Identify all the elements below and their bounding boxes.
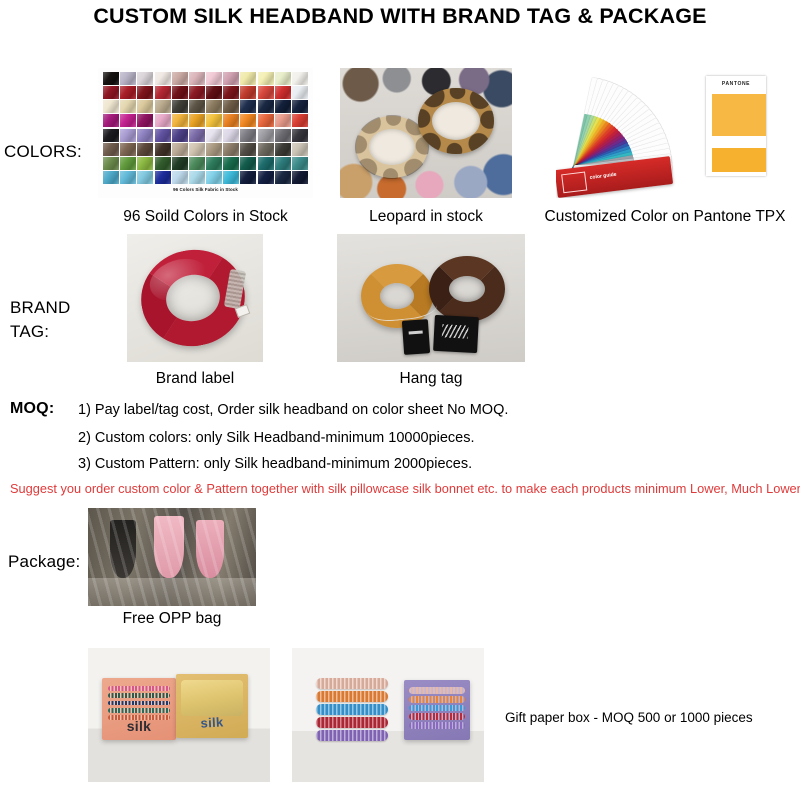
scrunchie-band [108, 693, 170, 698]
scrunchie-brown [429, 256, 505, 322]
color-swatch [172, 129, 188, 142]
scrunchie-ring [316, 717, 388, 728]
color-swatch [206, 171, 222, 184]
swatch-sheet-embedded-caption: 96 Colors Silk Fabric in Stock [98, 187, 313, 192]
pantone-color-card: PANTONE [706, 76, 766, 176]
moq-item-2: 2) Custom colors: only Silk Headband-min… [78, 430, 475, 446]
color-swatch-sheet-image: 96 Colors Silk Fabric in Stock [98, 68, 313, 198]
gift-box-pink: silk [102, 678, 176, 740]
gift-box-image-b [292, 648, 484, 782]
pantone-fan-image: color guide PANTONE [556, 62, 784, 198]
color-swatch [258, 100, 274, 113]
caption-hang-tag: Hang tag [337, 370, 525, 388]
color-swatch [240, 72, 256, 85]
color-swatch [240, 157, 256, 170]
color-swatch [240, 143, 256, 156]
color-swatch [240, 100, 256, 113]
color-swatch [223, 100, 239, 113]
color-swatch [155, 100, 171, 113]
pantone-brand-text: PANTONE [722, 81, 750, 87]
scrunchie-band [409, 687, 465, 694]
color-swatch [206, 86, 222, 99]
gift-box-image-a: silk silk [88, 648, 270, 782]
color-swatch [240, 129, 256, 142]
color-swatch [206, 100, 222, 113]
color-swatch [258, 171, 274, 184]
page-title: CUSTOM SILK HEADBAND WITH BRAND TAG & PA… [0, 4, 800, 29]
section-label-package: Package: [8, 552, 80, 572]
caption-brand-label: Brand label [127, 370, 263, 388]
color-swatch [120, 100, 136, 113]
color-swatch [258, 114, 274, 127]
color-swatch [258, 157, 274, 170]
color-swatch [292, 171, 308, 184]
caption-leopard: Leopard in stock [340, 208, 512, 226]
moq-item-1: 1) Pay label/tag cost, Order silk headba… [78, 402, 508, 418]
gift-box-word-silk: silk [127, 718, 152, 734]
color-swatch [206, 143, 222, 156]
scrunchie-band [108, 708, 170, 713]
color-swatch [223, 86, 239, 99]
pantone-card-header: PANTONE [706, 76, 766, 94]
color-swatch [172, 72, 188, 85]
giftbox-a-scrunchie-stack [108, 686, 170, 720]
color-swatch [189, 157, 205, 170]
color-swatch [292, 100, 308, 113]
color-swatch [137, 143, 153, 156]
color-swatch [240, 114, 256, 127]
scrunchie-ring [316, 730, 388, 741]
color-swatch [189, 171, 205, 184]
color-swatch [103, 100, 119, 113]
color-swatch [223, 157, 239, 170]
color-swatch [155, 72, 171, 85]
gift-box-purple [404, 680, 470, 740]
color-swatch [240, 171, 256, 184]
scrunchie-band [108, 701, 170, 706]
pantone-card-code [714, 138, 715, 143]
color-swatch [155, 171, 171, 184]
color-swatch [103, 72, 119, 85]
pantone-card-swatch-bottom [712, 148, 766, 172]
scrunchie-band [409, 713, 465, 720]
color-swatch [155, 129, 171, 142]
scrunchie-cream [356, 116, 428, 178]
color-swatch [206, 129, 222, 142]
color-swatch [275, 86, 291, 99]
caption-opp-bag: Free OPP bag [88, 610, 256, 628]
color-swatch [137, 86, 153, 99]
color-swatch [137, 157, 153, 170]
color-swatch [258, 143, 274, 156]
color-swatch [275, 100, 291, 113]
color-swatch [292, 157, 308, 170]
scrunchie-band [409, 696, 465, 703]
section-label-brand: BRAND [10, 298, 71, 318]
scrunchie-ring [316, 691, 388, 702]
color-swatch [292, 129, 308, 142]
gift-box-word-silk-2: silk [200, 714, 224, 730]
color-swatch [240, 86, 256, 99]
giftbox-b-scrunchie-rows [409, 687, 465, 729]
scrunchie-leopard [418, 88, 494, 154]
scrunchie-ring [316, 678, 388, 689]
color-swatch [172, 171, 188, 184]
color-swatch [103, 114, 119, 127]
color-swatch [120, 86, 136, 99]
color-swatch [120, 72, 136, 85]
color-swatch [103, 86, 119, 99]
color-swatch [189, 143, 205, 156]
section-label-moq: MOQ: [10, 400, 54, 418]
color-swatch [189, 100, 205, 113]
scrunchie-band [108, 686, 170, 691]
section-label-tag: TAG: [10, 322, 49, 342]
color-swatch [172, 86, 188, 99]
color-swatch [155, 143, 171, 156]
color-swatch [223, 171, 239, 184]
color-swatch [103, 171, 119, 184]
color-swatch [223, 143, 239, 156]
gift-box-yellow: silk [176, 674, 248, 738]
hang-tag-black-large [433, 315, 479, 353]
color-swatch [137, 100, 153, 113]
color-swatch [189, 86, 205, 99]
color-swatch [206, 157, 222, 170]
color-swatch [103, 157, 119, 170]
opp-bag-image [88, 508, 256, 606]
color-swatch [223, 114, 239, 127]
caption-gift-box: Gift paper box - MOQ 500 or 1000 pieces [505, 710, 753, 725]
color-swatch [172, 143, 188, 156]
color-swatch [223, 129, 239, 142]
opp-plastic-sheen [88, 508, 256, 606]
color-swatch [189, 72, 205, 85]
color-swatch [172, 100, 188, 113]
scrunchie-ring [316, 704, 388, 715]
color-swatch [155, 114, 171, 127]
caption-solid-colors: 96 Soild Colors in Stock [98, 208, 313, 226]
pantone-fan-base-label: color guide [589, 172, 616, 181]
color-swatch [137, 171, 153, 184]
color-swatch [292, 114, 308, 127]
giftbox-a-silk-pile [181, 680, 243, 716]
color-swatch [120, 171, 136, 184]
scrunchie-band [409, 722, 465, 729]
color-swatch [275, 157, 291, 170]
color-swatch [120, 114, 136, 127]
color-swatch [120, 129, 136, 142]
swatch-grid [103, 72, 308, 184]
leopard-scrunchies-image [340, 68, 512, 198]
suggestion-note: Suggest you order custom color & Pattern… [10, 481, 794, 496]
caption-pantone: Customized Color on Pantone TPX [530, 208, 800, 226]
color-swatch [103, 129, 119, 142]
pantone-card-swatch-top [712, 94, 766, 136]
color-swatch [155, 86, 171, 99]
color-swatch [103, 143, 119, 156]
scrunchie-stack [316, 678, 388, 741]
color-swatch [275, 129, 291, 142]
hang-tag-image [337, 234, 525, 362]
color-swatch [292, 143, 308, 156]
color-swatch [189, 129, 205, 142]
color-swatch [155, 157, 171, 170]
color-swatch [206, 114, 222, 127]
color-swatch [172, 157, 188, 170]
color-swatch [223, 72, 239, 85]
color-swatch [275, 114, 291, 127]
color-swatch [137, 72, 153, 85]
color-swatch [172, 114, 188, 127]
color-swatch [258, 72, 274, 85]
color-swatch [275, 171, 291, 184]
color-swatch [258, 129, 274, 142]
section-label-colors: COLORS: [4, 142, 82, 162]
color-swatch [137, 114, 153, 127]
color-swatch [120, 157, 136, 170]
moq-item-3: 3) Custom Pattern: only Silk headband-mi… [78, 456, 472, 472]
color-swatch [120, 143, 136, 156]
color-swatch [292, 86, 308, 99]
color-swatch [275, 72, 291, 85]
product-spec-sheet: CUSTOM SILK HEADBAND WITH BRAND TAG & PA… [0, 0, 800, 800]
scrunchie-band [409, 705, 465, 712]
brand-label-headband-image [127, 234, 263, 362]
color-swatch [206, 72, 222, 85]
color-swatch [292, 72, 308, 85]
color-swatch [258, 86, 274, 99]
color-swatch [137, 129, 153, 142]
color-swatch [275, 143, 291, 156]
color-swatch [189, 114, 205, 127]
hang-tag-black-small [402, 319, 430, 355]
